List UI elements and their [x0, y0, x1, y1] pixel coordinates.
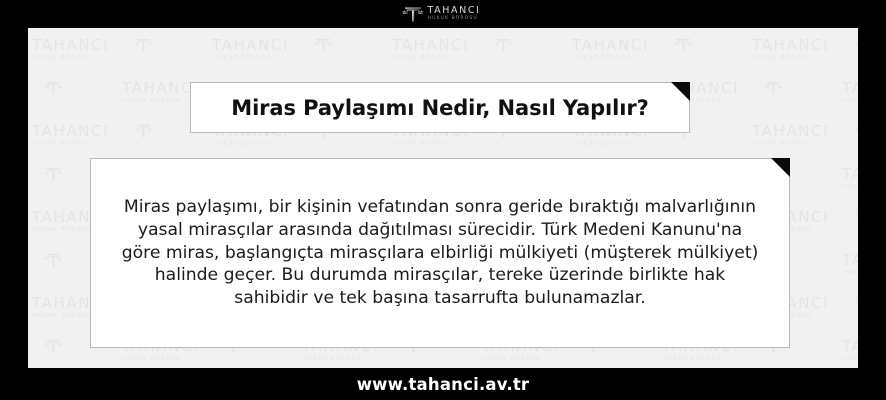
- pillar-column-icon: [402, 4, 424, 24]
- title-card: Miras Paylaşımı Nedir, Nasıl Yapılır?: [190, 82, 690, 133]
- brand-tagline: HUKUK BÜROSU: [428, 17, 481, 22]
- body-paragraph: Miras paylaşımı, bir kişinin vefatından …: [91, 196, 789, 310]
- folded-corner-icon: [671, 82, 690, 101]
- brand-name: TAHANCI: [428, 6, 481, 16]
- brand-logo: TAHANCI HUKUK BÜROSU: [402, 4, 481, 24]
- folded-corner-icon: [771, 158, 790, 177]
- footer-bar: www.tahanci.av.tr: [0, 368, 886, 400]
- body-card: Miras paylaşımı, bir kişinin vefatından …: [90, 158, 790, 348]
- page-title: Miras Paylaşımı Nedir, Nasıl Yapılır?: [205, 96, 674, 120]
- image-frame: TAHANCI HUKUK BÜROSU Miras Paylaşımı Ned…: [0, 0, 886, 400]
- brand-logo-text: TAHANCI HUKUK BÜROSU: [428, 6, 481, 22]
- content-canvas: Miras Paylaşımı Nedir, Nasıl Yapılır? Mi…: [28, 28, 858, 368]
- top-logo-bar: TAHANCI HUKUK BÜROSU: [0, 0, 886, 28]
- website-url: www.tahanci.av.tr: [357, 375, 530, 394]
